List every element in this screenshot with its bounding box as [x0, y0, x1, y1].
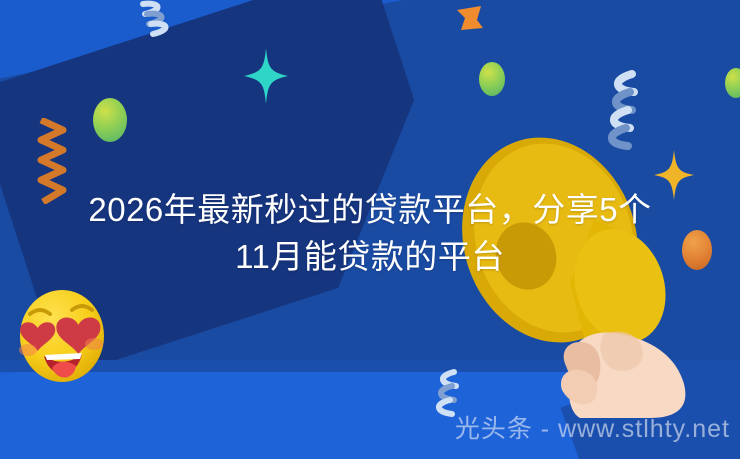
green-balloon-icon: [725, 68, 740, 98]
green-balloon-icon: [93, 98, 127, 142]
heart-eyes-emoji-icon: [14, 288, 110, 384]
orange-confetti-flag-icon: [455, 6, 485, 32]
cyan-sparkle-star-icon: [244, 48, 288, 104]
banner-title: 2026年最新秒过的贷款平台，分享5个 11月能贷款的平台: [0, 186, 740, 280]
green-balloon-icon: [479, 62, 505, 96]
blue-spiral-ribbon-icon: [137, 0, 183, 40]
promo-banner: 2026年最新秒过的贷款平台，分享5个 11月能贷款的平台 光头条 - www.…: [0, 0, 740, 459]
site-watermark: 光头条 - www.stlhty.net: [455, 409, 730, 445]
